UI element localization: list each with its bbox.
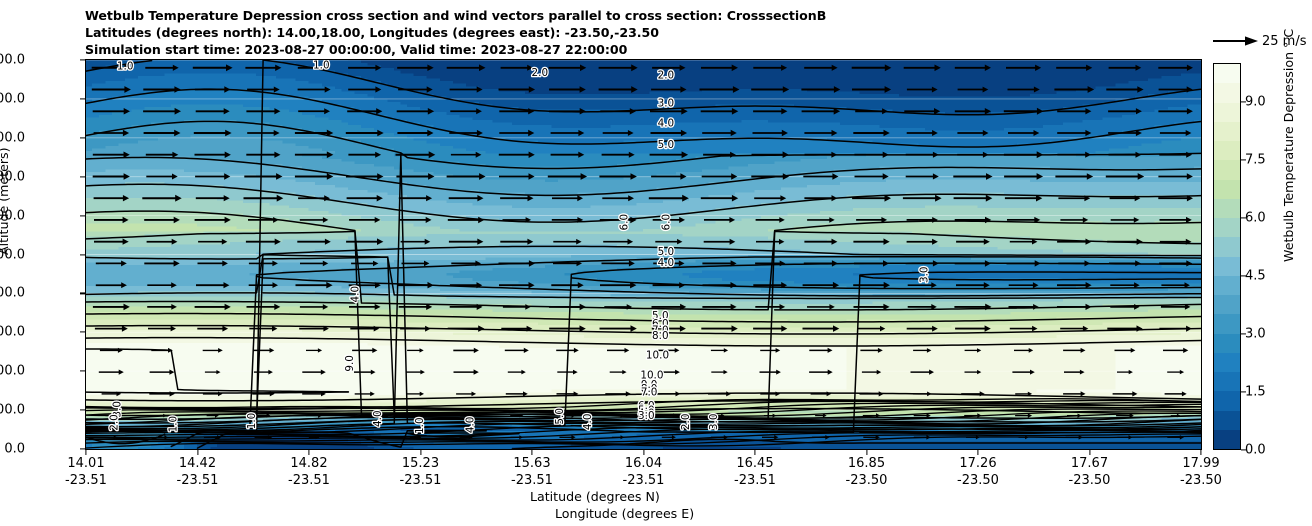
colorbar-tick-mark	[1241, 101, 1246, 102]
x-tick-mark	[643, 450, 644, 455]
contour-label: 4.0	[372, 410, 384, 427]
x-tick-label: 16.04-23.51	[623, 456, 665, 488]
colorbar-band	[1214, 257, 1240, 276]
colorbar-band	[1214, 237, 1240, 256]
colorbar-tick-mark	[1241, 449, 1246, 450]
colorbar-band	[1214, 314, 1240, 333]
contour-label: 3.0	[708, 414, 720, 431]
y-tick-label: 4000.0	[0, 286, 25, 301]
colorbar-tick-label: 3.0	[1245, 326, 1266, 341]
y-tick-label: 3000.0	[0, 325, 25, 340]
y-tick-label: 9000.0	[0, 91, 25, 106]
x-tick-mark	[531, 450, 532, 455]
colorbar-band	[1214, 83, 1240, 102]
contour-label: 2.0	[658, 69, 675, 81]
reference-wind-vector-icon	[1212, 33, 1258, 49]
contour-label: 4.0	[582, 414, 594, 431]
colorbar-band	[1214, 160, 1240, 179]
contour-label: 8.0	[652, 330, 669, 342]
contour-label: 6.0	[661, 214, 673, 231]
colorbar-band	[1214, 180, 1240, 199]
contour-label: 1.0	[167, 416, 179, 433]
colorbar-tick-label: 0.0	[1245, 443, 1266, 458]
y-tick-label: 10000.0	[0, 53, 25, 68]
x-tick-mark	[866, 450, 867, 455]
x-tick-mark	[197, 450, 198, 455]
x-tick-label: 14.01-23.51	[65, 456, 107, 488]
colorbar-band	[1214, 295, 1240, 314]
cross-section-svg: 1.01.01.01.02.02.02.02.03.03.04.04.05.05…	[86, 60, 1201, 449]
contour-label: 4.0	[464, 417, 476, 434]
contour-label: 4.0	[350, 286, 362, 303]
x-axis-label-latitude: Latitude (degrees N)	[530, 489, 660, 504]
colorbar-tick-mark	[1241, 159, 1246, 160]
colorbar-band	[1214, 64, 1240, 83]
colorbar-label: Wetbulb Temperature Depression ° C	[1281, 29, 1296, 262]
chart-title-line3: Simulation start time: 2023-08-27 00:00:…	[85, 42, 627, 57]
colorbar-tick-mark	[1241, 333, 1246, 334]
colorbar-band	[1214, 122, 1240, 141]
contour-label: 6.0	[619, 214, 631, 231]
x-tick-mark	[1089, 450, 1090, 455]
colorbar-tick-label: 6.0	[1245, 210, 1266, 225]
colorbar-band	[1214, 334, 1240, 353]
x-axis-label-longitude: Longitude (degrees E)	[555, 506, 694, 521]
x-tick-label: 16.85-23.50	[846, 456, 888, 488]
x-tick-label: 17.67-23.50	[1069, 456, 1111, 488]
colorbar-band	[1214, 372, 1240, 391]
contour-label: 3.0	[918, 266, 930, 283]
contour-label: 5.0	[658, 139, 675, 151]
x-tick-label: 15.23-23.51	[400, 456, 442, 488]
colorbar-tick-mark	[1241, 275, 1246, 276]
chart-title-line1: Wetbulb Temperature Depression cross sec…	[85, 8, 826, 23]
contour-label: 2.0	[680, 414, 692, 431]
colorbar-tick-label: 1.5	[1245, 384, 1266, 399]
colorbar-band	[1214, 103, 1240, 122]
contour-label: 3.0	[638, 410, 655, 422]
y-tick-label: 0.0	[4, 442, 25, 457]
colorbar-band	[1214, 141, 1240, 160]
contour-label: 1.0	[313, 60, 330, 71]
x-tick-label: 14.42-23.51	[177, 456, 219, 488]
contour-label: 5.0	[554, 408, 566, 425]
contour-label: 3.0	[658, 97, 675, 109]
y-tick-label: 1000.0	[0, 403, 25, 418]
x-tick-mark	[1200, 450, 1201, 455]
y-tick-label: 8000.0	[0, 130, 25, 145]
colorbar[interactable]	[1213, 63, 1241, 450]
colorbar-tick-mark	[1241, 217, 1246, 218]
x-tick-mark	[308, 450, 309, 455]
colorbar-band	[1214, 276, 1240, 295]
contour-label: 1.0	[414, 417, 426, 434]
x-tick-label: 14.82-23.51	[288, 456, 330, 488]
x-tick-mark	[977, 450, 978, 455]
x-tick-mark	[754, 450, 755, 455]
x-tick-mark	[420, 450, 421, 455]
y-tick-label: 5000.0	[0, 247, 25, 262]
colorbar-band	[1214, 353, 1240, 372]
colorbar-band	[1214, 430, 1240, 449]
x-tick-label: 17.99-23.50	[1180, 456, 1222, 488]
contour-label: 7.0	[641, 386, 658, 398]
plot-area: 1.01.01.01.02.02.02.02.03.03.04.04.05.05…	[85, 59, 1202, 450]
contour-label: 4.0	[658, 257, 675, 269]
y-axis-label: Altitude (meters)	[0, 148, 11, 255]
colorbar-tick-label: 7.5	[1245, 152, 1266, 167]
x-tick-label: 15.63-23.51	[511, 456, 553, 488]
y-tick-label: 6000.0	[0, 208, 25, 223]
contour-label: 2.0	[532, 67, 549, 79]
contour-label: 2.0	[109, 414, 121, 431]
colorbar-band	[1214, 411, 1240, 430]
colorbar-band	[1214, 218, 1240, 237]
chart-title-line2: Latitudes (degrees north): 14.00,18.00, …	[85, 25, 659, 40]
x-tick-label: 16.45-23.51	[734, 456, 776, 488]
x-tick-mark	[85, 450, 86, 455]
chart-figure: Wetbulb Temperature Depression cross sec…	[0, 0, 1312, 526]
contour-label: 4.0	[658, 118, 675, 130]
y-tick-label: 2000.0	[0, 364, 25, 379]
contour-label: 1.0	[117, 60, 134, 72]
colorbar-band	[1214, 391, 1240, 410]
contour-label: 1.0	[246, 413, 258, 430]
colorbar-band	[1214, 199, 1240, 218]
y-tick-label: 7000.0	[0, 169, 25, 184]
x-tick-label: 17.26-23.50	[957, 456, 999, 488]
colorbar-tick-label: 4.5	[1245, 268, 1266, 283]
colorbar-tick-label: 9.0	[1245, 94, 1266, 109]
colorbar-tick-mark	[1241, 391, 1246, 392]
contour-label: 10.0	[646, 350, 669, 362]
contour-label: 9.0	[344, 355, 356, 372]
